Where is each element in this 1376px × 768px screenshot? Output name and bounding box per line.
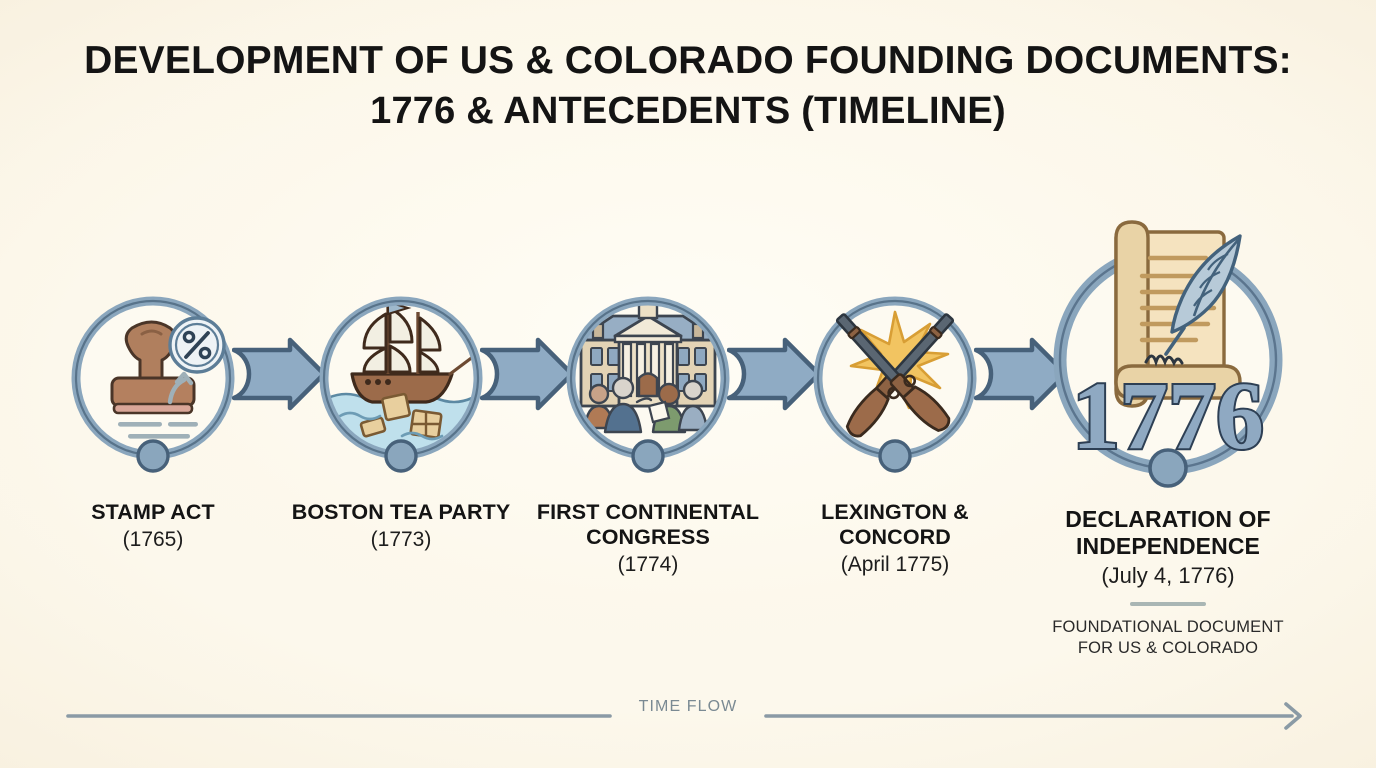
title-line-2: 1776 & ANTECEDENTS (TIMELINE) [0, 86, 1376, 136]
timeline-node-declaration-of-independence[interactable]: 1776 DECLARATION OF INDEPENDENCE (July 4… [1028, 196, 1308, 659]
node-date-declaration-of-independence: (July 4, 1776) [1028, 563, 1308, 589]
node-circle-stamp-act [58, 290, 248, 480]
node-subtext-line-2: FOR US & COLORADO [1028, 638, 1308, 659]
timeline-node-stamp-act[interactable]: STAMP ACT (1765) [13, 290, 293, 552]
timeline-node-boston-tea-party[interactable]: BOSTON TEA PARTY (1773) [281, 290, 521, 552]
node-label-lexington-and-concord: LEXINGTON & CONCORD [775, 500, 1015, 550]
node-circle-declaration-of-independence: 1776 [1028, 196, 1308, 492]
node-label-declaration-of-independence: DECLARATION OF INDEPENDENCE [1028, 506, 1308, 560]
node-label-boston-tea-party: BOSTON TEA PARTY [281, 500, 521, 525]
time-flow-label: TIME FLOW [0, 698, 1376, 716]
node-circle-boston-tea-party [306, 290, 496, 480]
infographic-canvas: DEVELOPMENT OF US & COLORADO FOUNDING DO… [0, 0, 1376, 768]
congress-hall-delegates-icon [553, 290, 743, 480]
time-flow-footer: TIME FLOW [0, 698, 1376, 738]
node-label-stamp-act: STAMP ACT [13, 500, 293, 525]
node-circle-lexington-and-concord [800, 290, 990, 480]
node-subtext-line-1: FOUNDATIONAL DOCUMENT [1028, 617, 1308, 638]
node-circle-first-continental-congress [553, 290, 743, 480]
node-date-lexington-and-concord: (April 1775) [775, 552, 1015, 577]
crossed-muskets-icon [800, 290, 990, 480]
caption-divider [1130, 602, 1206, 606]
ship-tea-crates-icon [306, 290, 496, 480]
timeline-node-first-continental-congress[interactable]: FIRST CONTINENTAL CONGRESS (1774) [523, 290, 773, 577]
node-date-first-continental-congress: (1774) [523, 552, 773, 577]
stamp-tax-icon [58, 290, 248, 480]
node-date-boston-tea-party: (1773) [281, 527, 521, 552]
scroll-quill-icon: 1776 [1028, 196, 1308, 492]
node-label-first-continental-congress: FIRST CONTINENTAL CONGRESS [523, 500, 773, 550]
timeline-node-lexington-and-concord[interactable]: LEXINGTON & CONCORD (April 1775) [775, 290, 1015, 577]
page-title: DEVELOPMENT OF US & COLORADO FOUNDING DO… [0, 36, 1376, 136]
title-line-1: DEVELOPMENT OF US & COLORADO FOUNDING DO… [0, 36, 1376, 86]
node-date-stamp-act: (1765) [13, 527, 293, 552]
